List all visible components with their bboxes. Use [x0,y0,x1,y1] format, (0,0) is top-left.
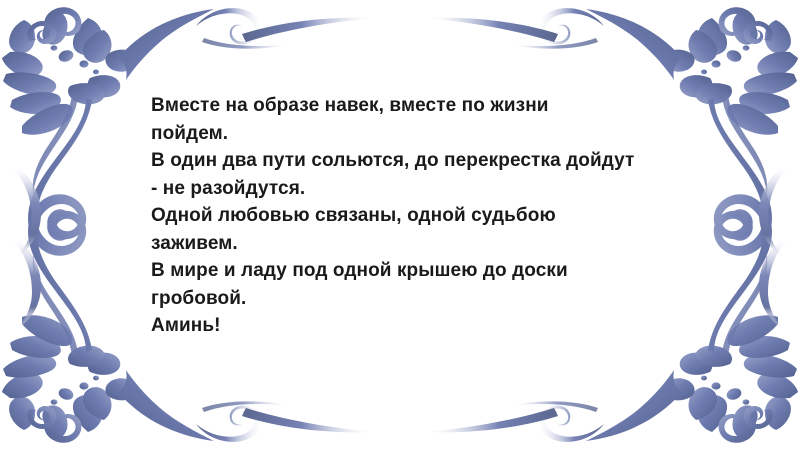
edge-arc-left-lower [14,238,41,330]
verse-line: Вместе на образе навек, вместе по жизни [151,92,671,120]
ornamental-text-card: Вместе на образе навек, вместе по жизни … [0,0,800,450]
edge-arc-right-lower [759,238,786,330]
edge-sweep-bottom-right [426,401,604,442]
verse-line: заживем. [151,230,671,258]
verse-line: В мире и ладу под одной крышею до доски [151,257,671,285]
edge-sweep-top-right [426,8,604,49]
verse-line: - не разойдутся. [151,175,671,203]
edge-sweep-top-left [196,8,374,49]
edge-arc-left-upper [14,166,41,258]
verse-line: В один два пути сольются, до перекрестка… [151,147,671,175]
verse-text-block: Вместе на образе навек, вместе по жизни … [151,92,671,340]
verse-line: Аминь! [151,312,671,340]
verse-line: Одной любовью связаны, одной судьбою [151,202,671,230]
verse-line: гробовой. [151,285,671,313]
edge-sweep-bottom-left [196,401,374,442]
edge-arc-right-upper [759,166,786,258]
verse-line: пойдем. [151,120,671,148]
